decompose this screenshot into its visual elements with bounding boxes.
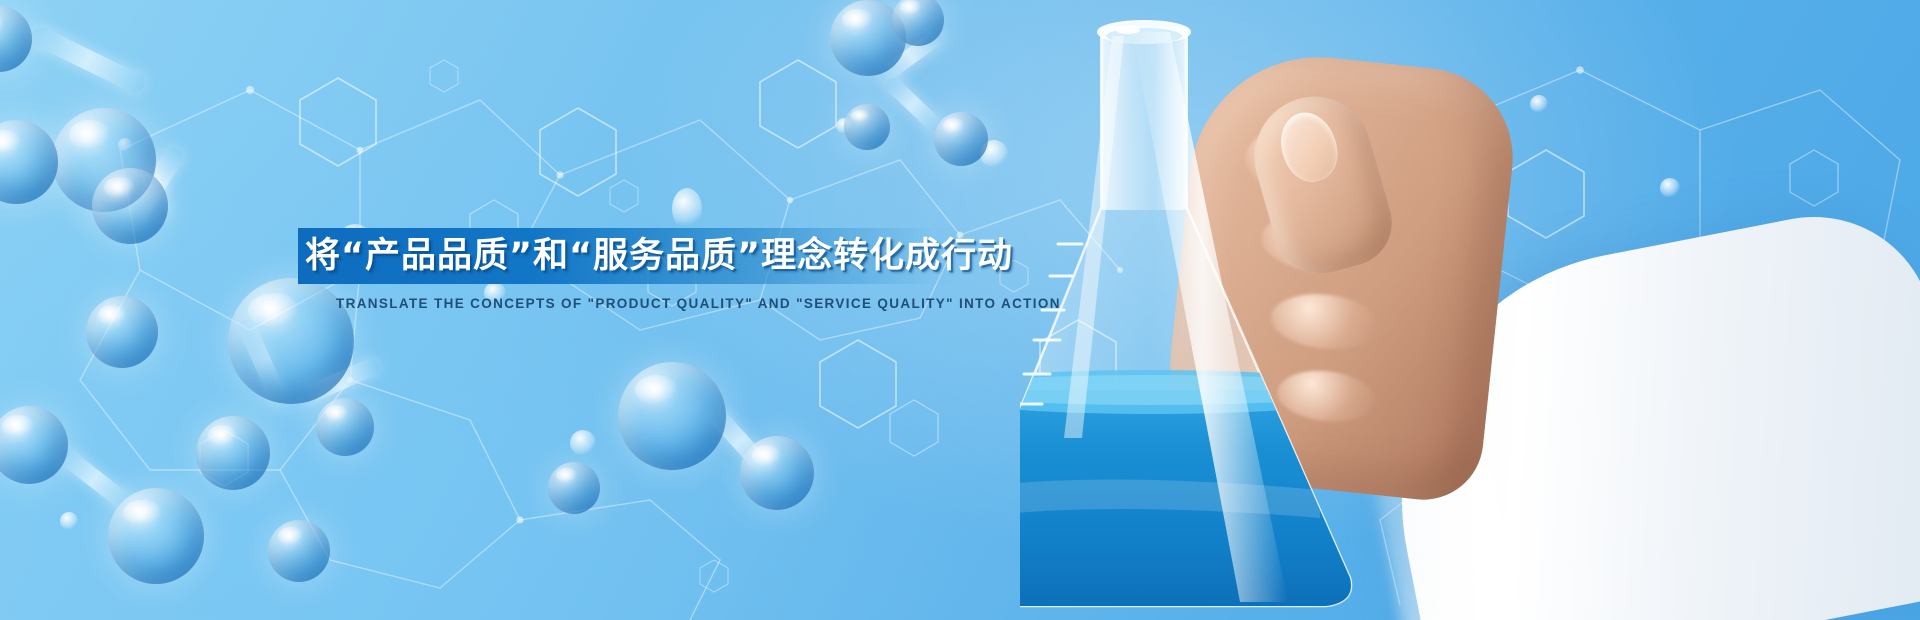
molecule-sphere xyxy=(934,112,988,166)
molecule-sphere xyxy=(92,168,168,244)
molecule-sphere xyxy=(0,6,32,72)
molecule-sphere xyxy=(0,120,58,204)
erlenmeyer-flask: 250 APPROX 200 150 100 xyxy=(1020,18,1490,620)
molecule-sphere xyxy=(268,520,330,582)
bokeh-dot xyxy=(118,138,132,152)
page-title: 将“产品品质”和“服务品质”理念转化成行动 xyxy=(305,230,1005,282)
molecule-sphere xyxy=(52,108,156,212)
molecule-sphere xyxy=(618,362,726,470)
bokeh-dot xyxy=(672,188,702,230)
molecule-sphere xyxy=(0,406,68,484)
bokeh-dot xyxy=(570,430,596,456)
molecule-sphere xyxy=(316,398,374,456)
molecule-sphere xyxy=(892,0,944,46)
molecule-sphere xyxy=(196,416,270,490)
molecule-sphere xyxy=(740,436,814,510)
molecule-sphere xyxy=(108,488,204,584)
hero-banner: 250 APPROX 200 150 100 将“产品品质”和“服务品质”理念转… xyxy=(0,0,1920,620)
molecule-sphere xyxy=(548,462,600,514)
molecule-sphere xyxy=(830,0,906,76)
bokeh-dot xyxy=(60,512,78,530)
molecule-sphere xyxy=(86,296,158,368)
bokeh-dot xyxy=(836,118,852,134)
page-subtitle: TRANSLATE THE CONCEPTS OF "PRODUCT QUALI… xyxy=(336,296,1096,311)
bokeh-dot xyxy=(1530,95,1548,113)
bokeh-dot xyxy=(980,140,1008,168)
molecule-sphere xyxy=(844,104,890,150)
bokeh-dot xyxy=(1660,178,1680,198)
